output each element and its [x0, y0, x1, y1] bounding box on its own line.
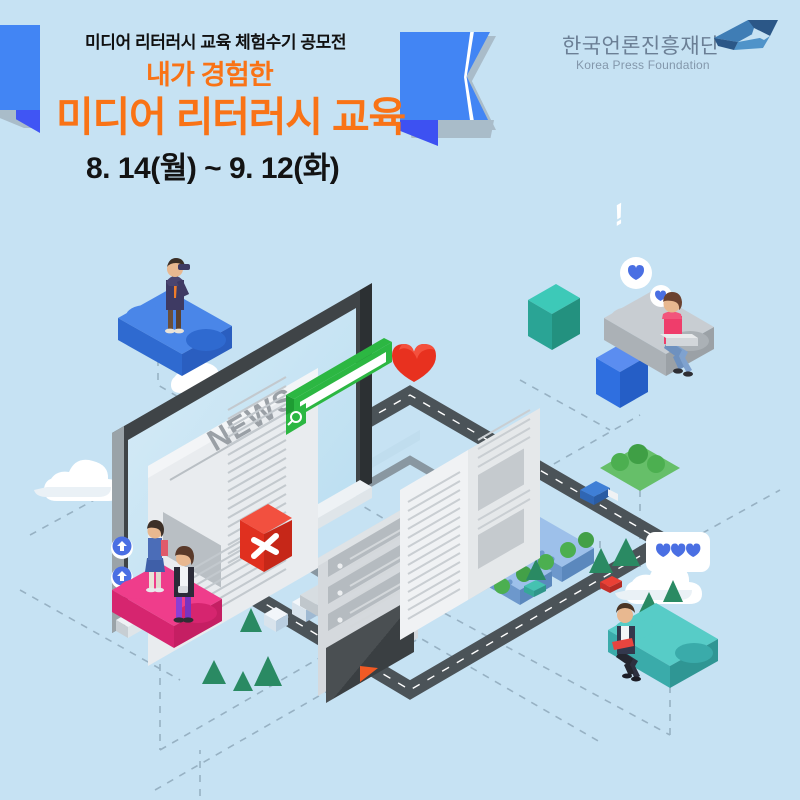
- poster-header: 미디어 리터러시 교육 체험수기 공모전 내가 경험한 미디어 리터러시 교육 …: [0, 0, 800, 200]
- isometric-scene: NEWS: [0, 190, 800, 800]
- question-icon: ?: [528, 190, 580, 350]
- poster-canvas: 미디어 리터러시 교육 체험수기 공모전 내가 경험한 미디어 리터러시 교육 …: [0, 0, 800, 800]
- newspaper-sheets: [400, 408, 540, 640]
- bookmark-body: [0, 25, 40, 110]
- heart-icon: [392, 344, 436, 382]
- book-page: [400, 32, 490, 124]
- kicker-text: 미디어 리터러시 교육 체험수기 공모전: [85, 28, 346, 53]
- open-book-icon: [400, 32, 496, 140]
- book-notch: [400, 120, 438, 146]
- kpf-chevron-mark-icon: [708, 18, 778, 60]
- logo-english-name: Korea Press Foundation: [576, 58, 710, 72]
- date-range-text: 8. 14(월) ~ 9. 12(화): [86, 143, 339, 187]
- platform-man-binoculars: [118, 258, 232, 376]
- organization-logo: 한국언론진흥재단 Korea Press Foundation: [558, 16, 778, 86]
- logo-korean-name: 한국언론진흥재단: [562, 30, 720, 60]
- bookmark-icon: [0, 25, 40, 122]
- cloud-icon: [34, 460, 121, 501]
- page-title: 미디어 리터러시 교육: [56, 83, 405, 143]
- svg-text:!: !: [614, 195, 624, 234]
